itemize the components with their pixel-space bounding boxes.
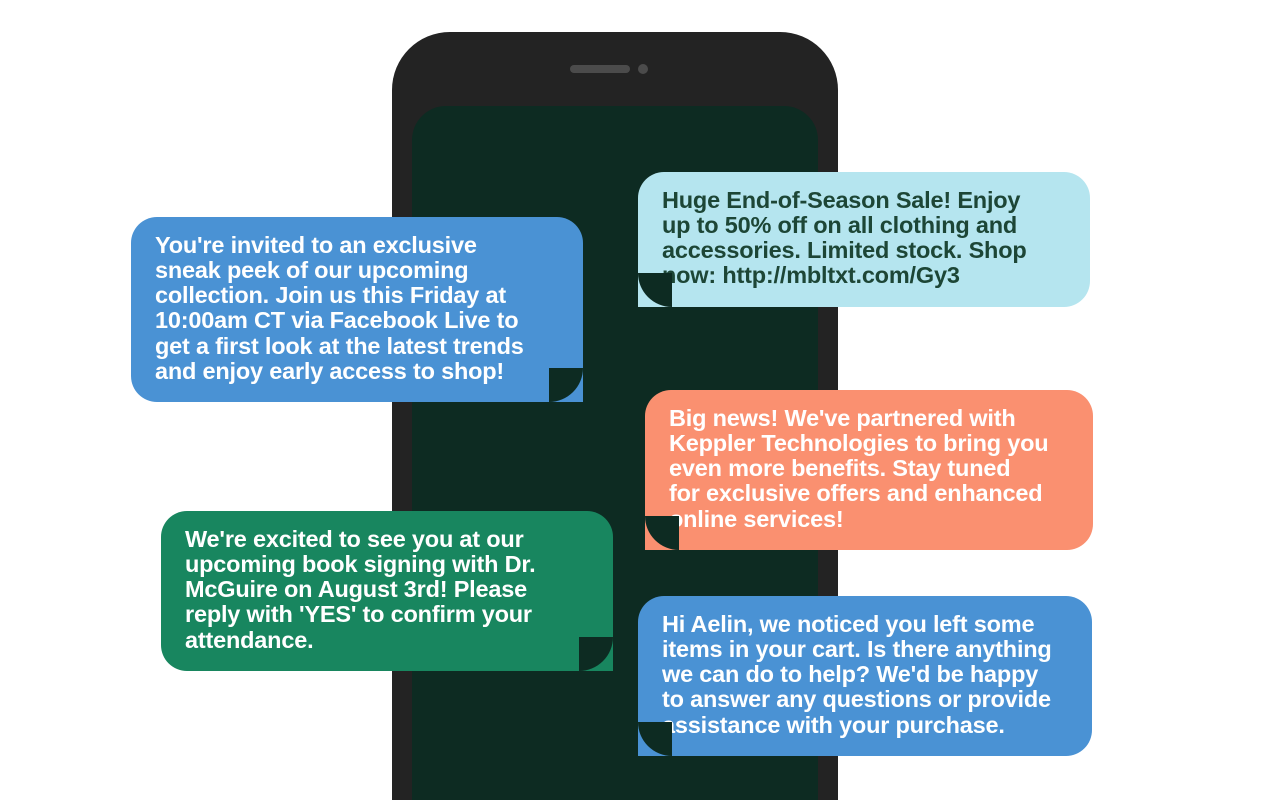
front-camera-icon bbox=[638, 64, 648, 74]
illustration-canvas: You're invited to an exclusive sneak pee… bbox=[0, 0, 1274, 800]
message-text-invite: You're invited to an exclusive sneak pee… bbox=[155, 233, 559, 384]
earpiece-speaker-icon bbox=[570, 65, 630, 73]
bubble-tail bbox=[638, 273, 672, 307]
message-bubble-cart: Hi Aelin, we noticed you left some items… bbox=[638, 596, 1092, 756]
message-bubble-sale: Huge End-of-Season Sale! Enjoy up to 50%… bbox=[638, 172, 1090, 307]
message-bubble-booksigning: We're excited to see you at our upcoming… bbox=[161, 511, 613, 671]
bubble-tail bbox=[549, 368, 583, 402]
message-text-cart: Hi Aelin, we noticed you left some items… bbox=[662, 612, 1068, 738]
message-text-sale: Huge End-of-Season Sale! Enjoy up to 50%… bbox=[662, 188, 1066, 289]
bubble-tail bbox=[579, 637, 613, 671]
message-text-booksigning: We're excited to see you at our upcoming… bbox=[185, 527, 589, 653]
bubble-tail bbox=[645, 516, 679, 550]
message-bubble-invite: You're invited to an exclusive sneak pee… bbox=[131, 217, 583, 402]
message-bubble-partnership: Big news! We've partnered with Keppler T… bbox=[645, 390, 1093, 550]
message-text-partnership: Big news! We've partnered with Keppler T… bbox=[669, 406, 1069, 532]
bubble-tail bbox=[638, 722, 672, 756]
